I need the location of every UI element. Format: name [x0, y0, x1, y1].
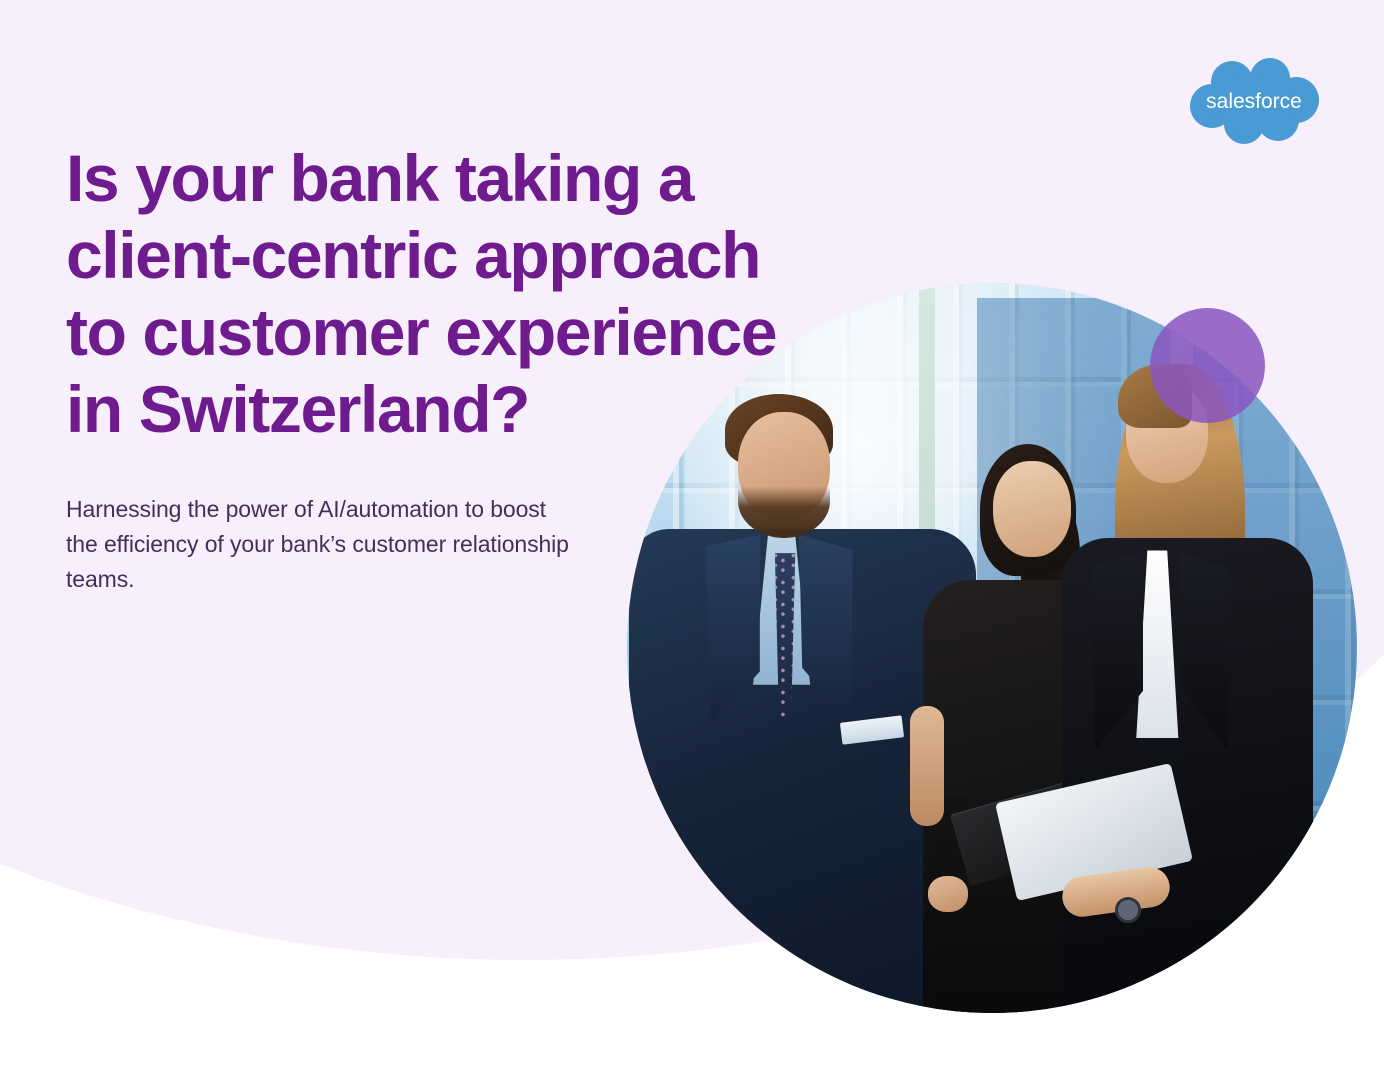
- salesforce-cloud-logo: salesforce: [1186, 58, 1322, 144]
- cover-page: salesforce Is your bank taking a client-…: [0, 0, 1384, 1077]
- salesforce-wordmark: salesforce: [1206, 90, 1302, 113]
- page-subtitle: Harnessing the power of AI/automation to…: [66, 492, 571, 597]
- hand: [667, 932, 719, 976]
- wristwatch: [1115, 897, 1141, 923]
- purple-accent-circle: [1150, 308, 1265, 423]
- person-woman-with-laptop: [1050, 371, 1342, 1013]
- hero-content: Is your bank taking a client-centric app…: [66, 140, 806, 597]
- page-title: Is your bank taking a client-centric app…: [66, 140, 786, 448]
- arm: [910, 706, 944, 826]
- hand: [928, 876, 968, 912]
